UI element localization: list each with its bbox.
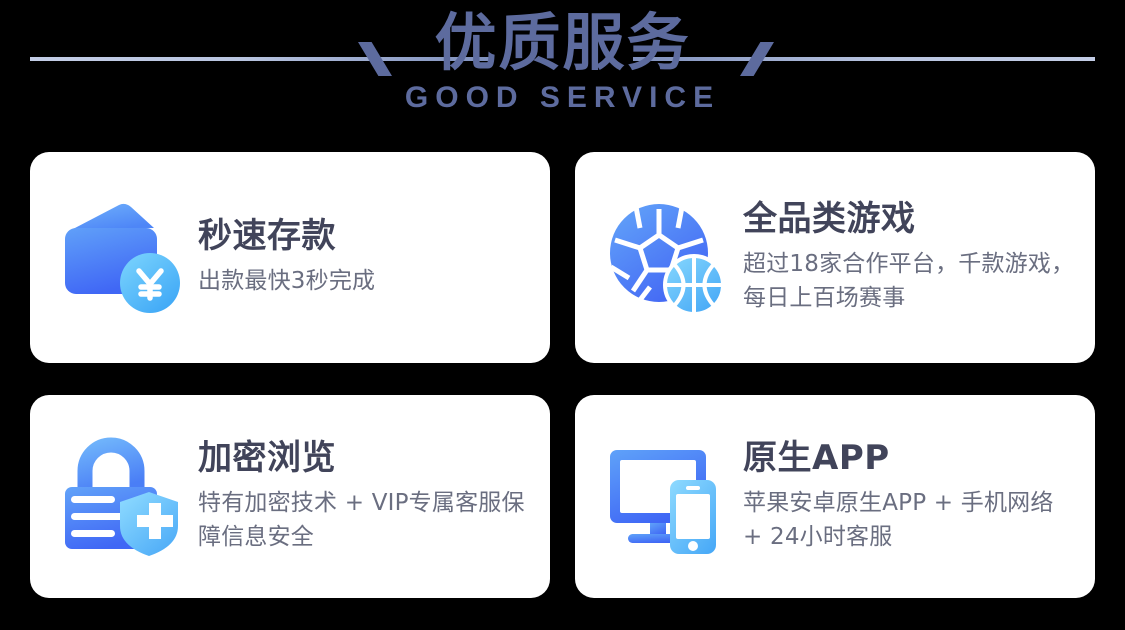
feature-card-text: 原生APP 苹果安卓原生APP + 手机网络 + 24小时客服: [733, 439, 1077, 554]
feature-card-text: 全品类游戏 超过18家合作平台，千款游戏，每日上百场赛事: [733, 200, 1077, 315]
feature-card-encryption[interactable]: 加密浏览 特有加密技术 + VIP专属客服保障信息安全: [30, 395, 550, 598]
feature-card-text: 秒速存款 出款最快3秒完成: [188, 217, 532, 298]
feature-card-native-app[interactable]: 原生APP 苹果安卓原生APP + 手机网络 + 24小时客服: [575, 395, 1095, 598]
feature-card-games[interactable]: 全品类游戏 超过18家合作平台，千款游戏，每日上百场赛事: [575, 152, 1095, 363]
feature-card-desc: 出款最快3秒完成: [198, 265, 532, 298]
page-subtitle: GOOD SERVICE: [0, 81, 1125, 115]
feature-card-desc: 特有加密技术 + VIP专属客服保障信息安全: [198, 487, 532, 554]
feature-card-title: 全品类游戏: [743, 200, 1077, 239]
feature-card-title: 原生APP: [743, 439, 1077, 478]
monitor-phone-icon: [601, 431, 733, 563]
lock-shield-icon: [56, 431, 188, 563]
page-title: 优质服务: [0, 6, 1125, 79]
feature-card-desc: 苹果安卓原生APP + 手机网络 + 24小时客服: [743, 487, 1077, 554]
soccer-basketball-icon: [601, 192, 733, 324]
feature-card-title: 秒速存款: [198, 217, 532, 256]
feature-card-desc: 超过18家合作平台，千款游戏，每日上百场赛事: [743, 248, 1077, 315]
wallet-yen-icon: [56, 192, 188, 324]
feature-card-deposit[interactable]: 秒速存款 出款最快3秒完成: [30, 152, 550, 363]
feature-card-grid: 秒速存款 出款最快3秒完成: [30, 152, 1095, 598]
page-header: 优质服务 GOOD SERVICE: [0, 0, 1125, 152]
feature-card-title: 加密浏览: [198, 439, 532, 478]
feature-card-text: 加密浏览 特有加密技术 + VIP专属客服保障信息安全: [188, 439, 532, 554]
page-title-block: 优质服务 GOOD SERVICE: [0, 6, 1125, 115]
